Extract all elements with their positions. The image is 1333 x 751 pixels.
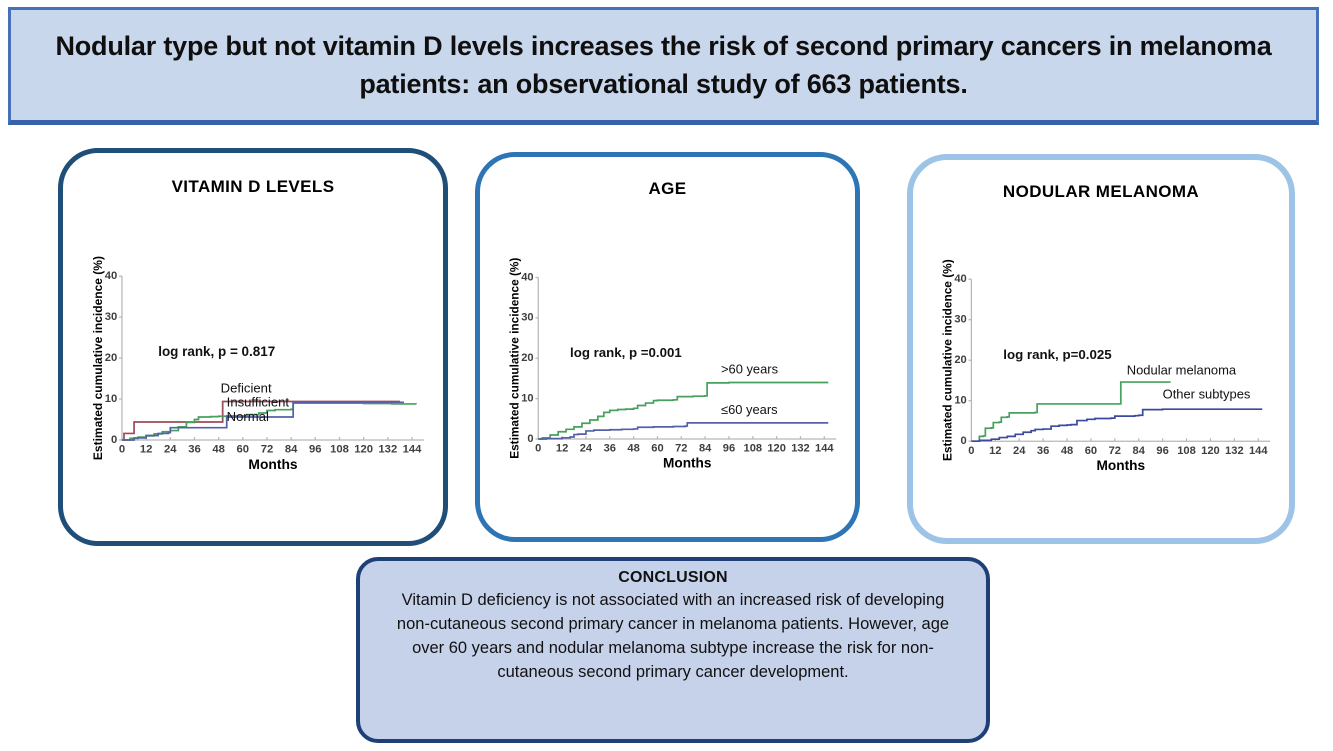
y-tick: 20 bbox=[105, 352, 122, 364]
x-tick-label: 96 bbox=[309, 444, 322, 456]
y-axis-title: Estimated cumulative incidence (%) bbox=[91, 256, 105, 460]
x-tick-label: 24 bbox=[1013, 445, 1026, 457]
x-tick-label: 108 bbox=[1177, 445, 1196, 457]
y-tick-label: 40 bbox=[105, 270, 118, 282]
x-tick-label: 144 bbox=[815, 443, 834, 455]
y-tick: 30 bbox=[105, 311, 122, 323]
y-tick-label: 30 bbox=[954, 314, 966, 326]
curve-label-normal: Normal bbox=[227, 409, 269, 424]
x-tick-label: 132 bbox=[791, 443, 810, 455]
x-tick-label: 108 bbox=[330, 444, 349, 456]
conclusion-body: Vitamin D deficiency is not associated w… bbox=[384, 588, 962, 684]
curve-60-years bbox=[538, 382, 828, 439]
x-tick-label: 72 bbox=[675, 443, 687, 455]
y-tick: 20 bbox=[521, 352, 538, 364]
curve-label-other-subtypes: Other subtypes bbox=[1163, 386, 1251, 401]
chart-svg-vitamin-d: 01020304001224364860728496108120132144Mo… bbox=[71, 211, 435, 527]
title-banner: Nodular type but not vitamin D levels in… bbox=[8, 7, 1319, 125]
x-tick-label: 48 bbox=[627, 443, 639, 455]
chart-svg-age: 01020304001224364860728496108120132144Mo… bbox=[488, 215, 847, 523]
x-tick-label: 12 bbox=[556, 443, 568, 455]
curve-label-nodular-melanoma: Nodular melanoma bbox=[1127, 362, 1237, 377]
x-tick-label: 84 bbox=[699, 443, 712, 455]
y-tick: 30 bbox=[521, 312, 538, 324]
y-tick-label: 10 bbox=[954, 395, 966, 407]
y-tick-label: 40 bbox=[521, 271, 533, 283]
y-tick: 20 bbox=[954, 354, 971, 366]
x-tick-label: 144 bbox=[1249, 445, 1268, 457]
y-axis-title: Estimated cumulative incidence (%) bbox=[941, 259, 955, 461]
y-tick-label: 0 bbox=[961, 435, 967, 447]
y-tick: 40 bbox=[521, 271, 538, 283]
x-tick-label: 36 bbox=[604, 443, 616, 455]
panel-title-age: AGE bbox=[480, 179, 855, 199]
curve-nodular-melanoma bbox=[971, 382, 1170, 441]
x-tick-label: 96 bbox=[1156, 445, 1168, 457]
x-tick-label: 0 bbox=[535, 443, 541, 455]
x-tick-label: 108 bbox=[744, 443, 763, 455]
x-tick-label: 120 bbox=[1201, 445, 1220, 457]
x-tick-label: 60 bbox=[237, 444, 250, 456]
y-tick: 40 bbox=[954, 273, 971, 285]
x-tick-label: 84 bbox=[285, 444, 298, 456]
x-tick-label: 48 bbox=[212, 444, 225, 456]
x-tick-label: 96 bbox=[723, 443, 735, 455]
chart-vitamin-d: 01020304001224364860728496108120132144Mo… bbox=[71, 211, 435, 527]
x-axis-title: Months bbox=[663, 456, 712, 471]
x-tick-label: 120 bbox=[767, 443, 786, 455]
panel-title-nodular: NODULAR MELANOMA bbox=[913, 182, 1289, 202]
curve-label-60-years: ≤60 years bbox=[721, 402, 778, 417]
curve-label-insufficient: Insufficient bbox=[227, 394, 290, 409]
x-tick-label: 72 bbox=[1109, 445, 1121, 457]
log-rank-annotation: log rank, p=0.025 bbox=[1003, 347, 1112, 362]
y-tick-label: 0 bbox=[111, 434, 117, 446]
y-tick: 10 bbox=[954, 395, 971, 407]
x-tick-label: 24 bbox=[164, 444, 177, 456]
x-tick-label: 12 bbox=[140, 444, 153, 456]
x-tick-label: 36 bbox=[188, 444, 201, 456]
y-tick-label: 30 bbox=[105, 311, 118, 323]
y-tick: 40 bbox=[105, 270, 122, 282]
x-tick-label: 36 bbox=[1037, 445, 1049, 457]
curve-label-60-years: >60 years bbox=[721, 362, 778, 377]
curve-label-deficient: Deficient bbox=[221, 380, 272, 395]
panel-age: AGE 010203040012243648607284961081201321… bbox=[475, 152, 860, 542]
x-tick-label: 132 bbox=[1225, 445, 1244, 457]
page-title: Nodular type but not vitamin D levels in… bbox=[11, 27, 1316, 103]
y-tick: 30 bbox=[954, 314, 971, 326]
y-tick-label: 20 bbox=[105, 352, 118, 364]
x-tick-label: 24 bbox=[580, 443, 593, 455]
y-tick-label: 40 bbox=[954, 273, 966, 285]
panel-nodular: NODULAR MELANOMA 01020304001224364860728… bbox=[907, 154, 1295, 544]
chart-age: 01020304001224364860728496108120132144Mo… bbox=[488, 215, 847, 523]
y-tick: 10 bbox=[105, 393, 122, 405]
x-axis-title: Months bbox=[248, 456, 297, 472]
x-tick-label: 60 bbox=[651, 443, 663, 455]
log-rank-annotation: log rank, p = 0.817 bbox=[158, 344, 275, 359]
conclusion-box: CONCLUSION Vitamin D deficiency is not a… bbox=[356, 557, 990, 743]
y-tick-label: 20 bbox=[521, 352, 533, 364]
y-tick-label: 10 bbox=[521, 392, 533, 404]
y-tick-label: 20 bbox=[954, 354, 966, 366]
panel-vitamin-d: VITAMIN D LEVELS 01020304001224364860728… bbox=[58, 148, 448, 546]
chart-nodular: 01020304001224364860728496108120132144Mo… bbox=[921, 218, 1281, 524]
x-tick-label: 120 bbox=[354, 444, 373, 456]
x-tick-label: 0 bbox=[119, 444, 125, 456]
y-tick-label: 0 bbox=[527, 433, 533, 445]
x-tick-label: 12 bbox=[989, 445, 1001, 457]
x-tick-label: 132 bbox=[378, 444, 397, 456]
chart-svg-nodular: 01020304001224364860728496108120132144Mo… bbox=[921, 218, 1281, 524]
x-tick-label: 84 bbox=[1133, 445, 1146, 457]
x-tick-label: 60 bbox=[1085, 445, 1097, 457]
conclusion-heading: CONCLUSION bbox=[384, 569, 962, 587]
curve-other-subtypes bbox=[971, 409, 1262, 441]
panel-title-vitamin-d: VITAMIN D LEVELS bbox=[63, 177, 443, 197]
x-tick-label: 0 bbox=[968, 445, 974, 457]
y-tick: 10 bbox=[521, 392, 538, 404]
y-tick-label: 10 bbox=[105, 393, 118, 405]
x-axis-title: Months bbox=[1097, 458, 1146, 473]
y-tick-label: 30 bbox=[521, 312, 533, 324]
log-rank-annotation: log rank, p =0.001 bbox=[570, 345, 682, 360]
x-tick-label: 48 bbox=[1061, 445, 1073, 457]
x-tick-label: 144 bbox=[403, 444, 423, 456]
x-tick-label: 72 bbox=[261, 444, 274, 456]
y-axis-title: Estimated cumulative incidence (%) bbox=[508, 258, 522, 459]
